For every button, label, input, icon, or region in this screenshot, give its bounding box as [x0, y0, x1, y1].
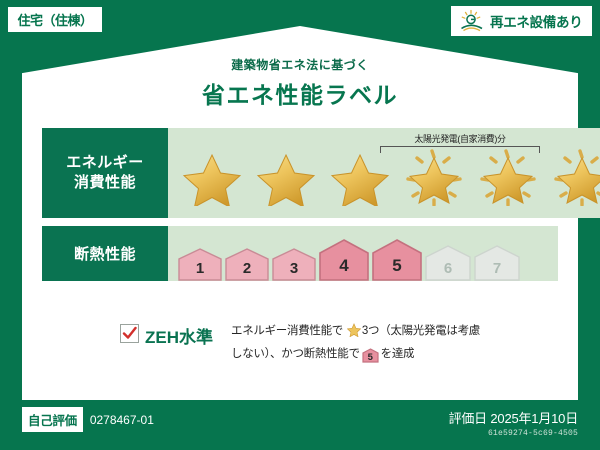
- zeh-desc-part3: を達成: [381, 348, 415, 360]
- energy-row-label-line2: 消費性能: [74, 173, 136, 193]
- record-id: 61e59274-5c69-4505: [449, 429, 578, 438]
- insulation-level-3-value: 3: [290, 260, 298, 277]
- building-type-tag: 住宅（住棟）: [8, 7, 102, 32]
- star-solar-1: [398, 148, 470, 206]
- insulation-level-7: 7: [474, 245, 520, 281]
- self-evaluation-tag: 自己評価: [22, 407, 83, 432]
- energy-performance-label: 住宅（住棟） 再エネ設備あり 建築物省エネ法に基づく 省エネ性能ラベル: [0, 0, 600, 450]
- insulation-level-7-value: 7: [493, 260, 501, 277]
- zeh-desc-part1: エネルギー消費性能で: [231, 325, 343, 337]
- insulation-level-1: 1: [178, 248, 222, 281]
- footer-right: 評価日 2025年1月10日 61e59274-5c69-4505: [449, 408, 578, 438]
- energy-row-body: 太陽光発電(自家消費)分: [168, 128, 600, 218]
- evaluation-date: 評価日 2025年1月10日: [449, 408, 578, 427]
- star-solar-2: [472, 148, 544, 206]
- renewable-equipment-badge: 再エネ設備あり: [451, 6, 592, 36]
- inline-insulation-badge: 5: [362, 348, 379, 363]
- insulation-level-4-value: 4: [339, 256, 348, 276]
- star-solar-3: [546, 148, 600, 206]
- zeh-section: ZEH水準 エネルギー消費性能で 3つ（太陽光発電は考慮しない）、かつ断熱性能で…: [120, 322, 483, 364]
- energy-row-label-line1: エネルギー: [66, 153, 144, 173]
- insulation-level-1-value: 1: [196, 260, 204, 277]
- insulation-level-6-value: 6: [444, 260, 452, 277]
- insulation-row-header: 断熱性能: [42, 226, 168, 281]
- inline-insulation-badge-value: 5: [368, 352, 373, 363]
- energy-row-header: エネルギー 消費性能: [42, 128, 168, 218]
- label-main-title: 省エネ性能ラベル: [0, 76, 600, 110]
- insulation-row-label: 断熱性能: [74, 243, 136, 264]
- sun-solar-icon: [459, 9, 485, 33]
- solar-annotation-text: 太陽光発電(自家消費)分: [380, 132, 540, 145]
- building-type-text: 住宅（住棟）: [17, 10, 92, 29]
- insulation-level-2-value: 2: [243, 260, 251, 277]
- energy-stars-group: [168, 148, 600, 206]
- zeh-title: ZEH水準: [145, 323, 213, 348]
- check-icon: [122, 326, 137, 341]
- insulation-level-4: 4: [319, 239, 369, 281]
- insulation-row-body: 1 2 3: [168, 226, 558, 281]
- zeh-desc-star-count: 3つ（太陽光発電: [362, 325, 447, 337]
- insulation-level-5-value: 5: [392, 256, 401, 276]
- star-plain-2: [250, 148, 322, 206]
- label-subtitle: 建築物省エネ法に基づく: [0, 56, 600, 73]
- star-plain-3: [324, 148, 396, 206]
- insulation-level-6: 6: [425, 245, 471, 281]
- zeh-checkbox[interactable]: [120, 324, 139, 343]
- zeh-description: エネルギー消費性能で 3つ（太陽光発電は考慮しない）、かつ断熱性能で 5 を達成: [231, 322, 483, 364]
- inline-star-icon: [347, 323, 361, 345]
- evaluation-number: 0278467-01: [90, 413, 154, 427]
- insulation-performance-row: 断熱性能 1 2: [42, 226, 558, 281]
- solar-annotation: 太陽光発電(自家消費)分: [380, 132, 540, 153]
- energy-performance-row: エネルギー 消費性能 太陽光発電(自家消費)分: [42, 128, 558, 218]
- insulation-levels-group: 1 2 3: [168, 226, 520, 281]
- insulation-level-5: 5: [372, 239, 422, 281]
- solar-annotation-bracket: [380, 146, 540, 153]
- footer-evaluation: 自己評価 0278467-01: [22, 407, 154, 432]
- renewable-badge-label: 再エネ設備あり: [490, 11, 582, 31]
- insulation-level-3: 3: [272, 248, 316, 281]
- insulation-level-2: 2: [225, 248, 269, 281]
- star-plain-1: [176, 148, 248, 206]
